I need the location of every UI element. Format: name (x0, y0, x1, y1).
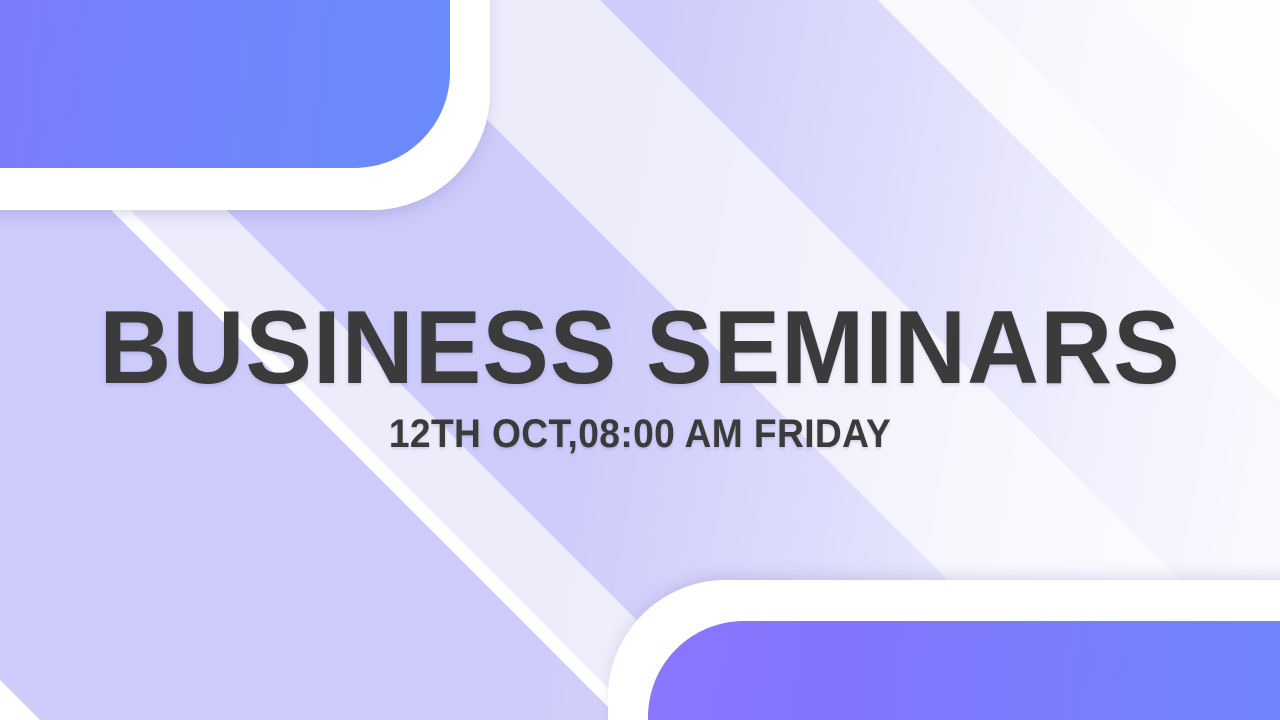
banner-text-block: BUSINESS SEMINARS 12TH OCT,08:00 AM FRID… (0, 296, 1280, 454)
event-banner: BUSINESS SEMINARS 12TH OCT,08:00 AM FRID… (0, 0, 1280, 720)
bottom-right-plate-gradient (648, 621, 1280, 720)
banner-date-time: 12TH OCT,08:00 AM FRIDAY (45, 414, 1235, 454)
top-left-plate-gradient (0, 0, 450, 168)
banner-headline: BUSINESS SEMINARS (26, 296, 1255, 400)
